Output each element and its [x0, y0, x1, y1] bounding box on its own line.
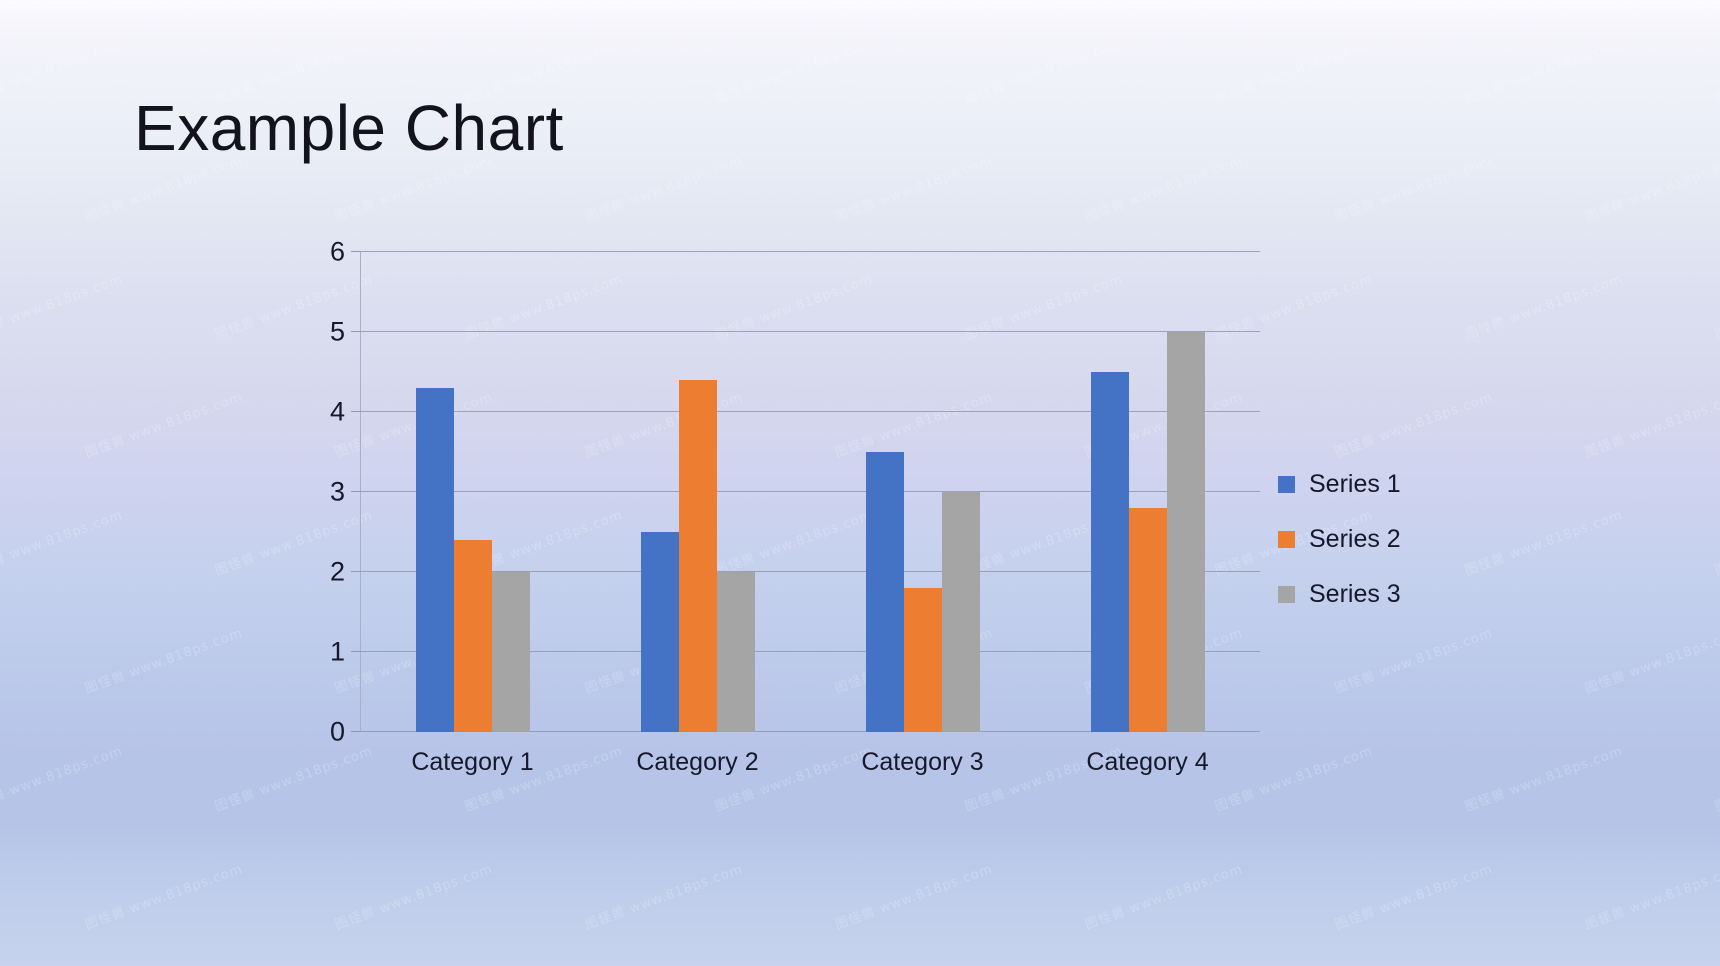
legend-item[interactable]: Series 1 — [1278, 470, 1401, 499]
watermark-text: 图怪兽 www.818ps.com — [1332, 150, 1495, 225]
watermark-text: 图怪兽 www.818ps.com — [82, 386, 245, 461]
bar-group[interactable]: Category 3 — [810, 252, 1035, 732]
bar[interactable] — [416, 388, 454, 732]
bar[interactable] — [904, 588, 942, 732]
watermark-text: 图怪兽 www.818ps.com — [832, 150, 995, 225]
bar[interactable] — [641, 532, 679, 732]
page-title: Example Chart — [134, 96, 564, 160]
bar[interactable] — [866, 452, 904, 732]
y-axis-tick — [351, 331, 360, 332]
watermark-text: 图怪兽 www.818ps.com — [82, 858, 245, 933]
watermark-text: 图怪兽 www.818ps.com — [0, 32, 125, 107]
legend-item-label: Series 3 — [1309, 580, 1401, 609]
x-axis-category-label: Category 3 — [861, 748, 983, 777]
watermark-text: 图怪兽 www.818ps.com — [0, 740, 125, 815]
bar-group[interactable]: Category 1 — [360, 252, 585, 732]
legend-item[interactable]: Series 3 — [1278, 580, 1401, 609]
legend-item[interactable]: Series 2 — [1278, 525, 1401, 554]
y-axis-tick-label: 1 — [330, 637, 345, 668]
y-axis-tick — [351, 411, 360, 412]
watermark-text: 图怪兽 www.818ps.com — [1712, 32, 1720, 107]
y-axis-tick-label: 5 — [330, 317, 345, 348]
y-axis-tick — [351, 251, 360, 252]
bar-group[interactable]: Category 2 — [585, 252, 810, 732]
watermark-text: 图怪兽 www.818ps.com — [1582, 150, 1720, 225]
watermark-text: 图怪兽 www.818ps.com — [1582, 386, 1720, 461]
watermark-text: 图怪兽 www.818ps.com — [1462, 504, 1625, 579]
watermark-text: 图怪兽 www.818ps.com — [1212, 32, 1375, 107]
plot-area: 0123456Category 1Category 2Category 3Cat… — [360, 252, 1260, 732]
watermark-text: 图怪兽 www.818ps.com — [1582, 858, 1720, 933]
x-axis-category-label: Category 1 — [411, 748, 533, 777]
y-axis-tick-label: 2 — [330, 557, 345, 588]
watermark-text: 图怪兽 www.818ps.com — [1712, 740, 1720, 815]
legend-swatch-icon — [1278, 476, 1295, 493]
watermark-text: 图怪兽 www.818ps.com — [832, 858, 995, 933]
bar[interactable] — [1091, 372, 1129, 732]
watermark-text: 图怪兽 www.818ps.com — [1332, 386, 1495, 461]
watermark-text: 图怪兽 www.818ps.com — [712, 32, 875, 107]
bar[interactable] — [492, 572, 530, 732]
watermark-text: 图怪兽 www.818ps.com — [1082, 858, 1245, 933]
y-axis-tick — [351, 651, 360, 652]
watermark-text: 图怪兽 www.818ps.com — [1332, 858, 1495, 933]
watermark-text: 图怪兽 www.818ps.com — [0, 268, 125, 343]
watermark-text: 图怪兽 www.818ps.com — [332, 858, 495, 933]
x-axis-category-label: Category 2 — [636, 748, 758, 777]
watermark-text: 图怪兽 www.818ps.com — [1332, 622, 1495, 697]
legend-swatch-icon — [1278, 531, 1295, 548]
watermark-text: 图怪兽 www.818ps.com — [1582, 622, 1720, 697]
watermark-text: 图怪兽 www.818ps.com — [82, 622, 245, 697]
bar[interactable] — [679, 380, 717, 732]
bar[interactable] — [454, 540, 492, 732]
bar[interactable] — [1167, 332, 1205, 732]
bar-chart[interactable]: 0123456Category 1Category 2Category 3Cat… — [300, 230, 1260, 790]
watermark-text: 图怪兽 www.818ps.com — [0, 504, 125, 579]
y-axis-tick-label: 6 — [330, 237, 345, 268]
y-axis-tick-label: 4 — [330, 397, 345, 428]
legend-item-label: Series 1 — [1309, 470, 1401, 499]
bar[interactable] — [1129, 508, 1167, 732]
x-axis-category-label: Category 4 — [1086, 748, 1208, 777]
watermark-text: 图怪兽 www.818ps.com — [962, 32, 1125, 107]
watermark-text: 图怪兽 www.818ps.com — [1082, 150, 1245, 225]
y-axis-tick — [351, 731, 360, 732]
y-axis-tick — [351, 571, 360, 572]
legend-swatch-icon — [1278, 586, 1295, 603]
chart-legend[interactable]: Series 1Series 2Series 3 — [1278, 470, 1401, 609]
y-axis-tick-label: 3 — [330, 477, 345, 508]
watermark-text: 图怪兽 www.818ps.com — [1462, 740, 1625, 815]
slide-canvas: 图怪兽 www.818ps.com图怪兽 www.818ps.com图怪兽 ww… — [0, 0, 1720, 966]
watermark-text: 图怪兽 www.818ps.com — [1712, 504, 1720, 579]
y-axis-tick — [351, 491, 360, 492]
y-axis-tick-label: 0 — [330, 717, 345, 748]
watermark-text: 图怪兽 www.818ps.com — [1462, 32, 1625, 107]
bar[interactable] — [942, 492, 980, 732]
legend-item-label: Series 2 — [1309, 525, 1401, 554]
watermark-text: 图怪兽 www.818ps.com — [1462, 268, 1625, 343]
bar[interactable] — [717, 572, 755, 732]
bar-group[interactable]: Category 4 — [1035, 252, 1260, 732]
watermark-text: 图怪兽 www.818ps.com — [582, 858, 745, 933]
watermark-text: 图怪兽 www.818ps.com — [1712, 268, 1720, 343]
watermark-text: 图怪兽 www.818ps.com — [582, 150, 745, 225]
